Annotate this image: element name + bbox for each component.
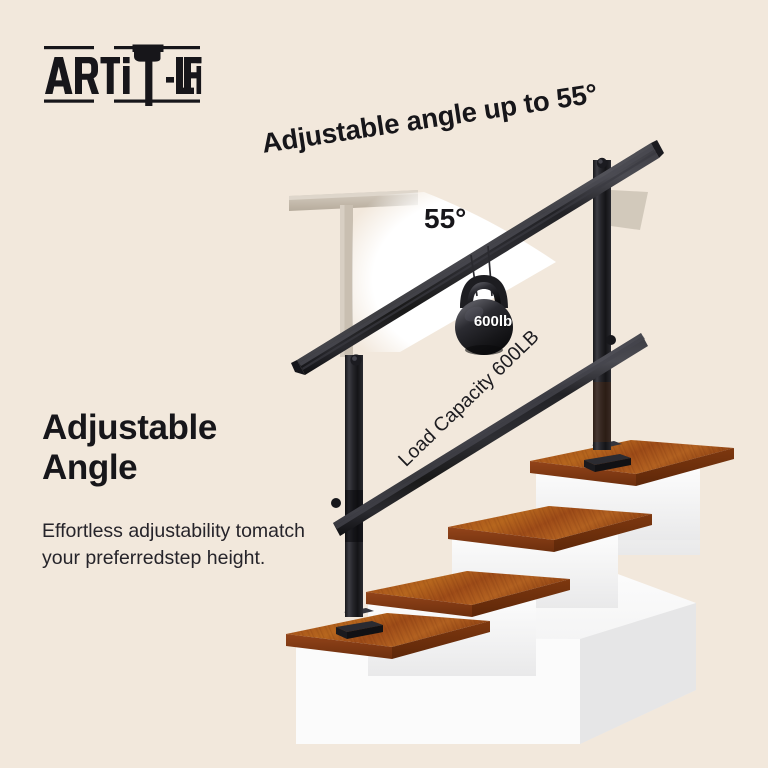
feature-title-line-1: Adjustable	[42, 408, 332, 448]
post-shadow	[611, 190, 648, 230]
feature-title: Adjustable Angle	[42, 408, 332, 487]
pivot-bolt-lower-core	[352, 356, 357, 361]
pivot-bolt-upper-core	[598, 159, 602, 163]
feature-title-line-2: Angle	[42, 448, 332, 488]
feature-description: Effortless adjustability tomatch your pr…	[42, 518, 330, 571]
post-lower	[345, 355, 363, 617]
product-illustration-canvas: Adjustable angle up to 55° 55° Load Capa…	[0, 0, 768, 768]
post-upper-sheen	[593, 382, 611, 442]
kettlebell-weight-label: 600lb	[465, 313, 521, 330]
rail-bracket-upper	[606, 335, 616, 345]
rail-bracket-lower	[331, 498, 341, 508]
angle-badge-55: 55°	[424, 203, 466, 235]
